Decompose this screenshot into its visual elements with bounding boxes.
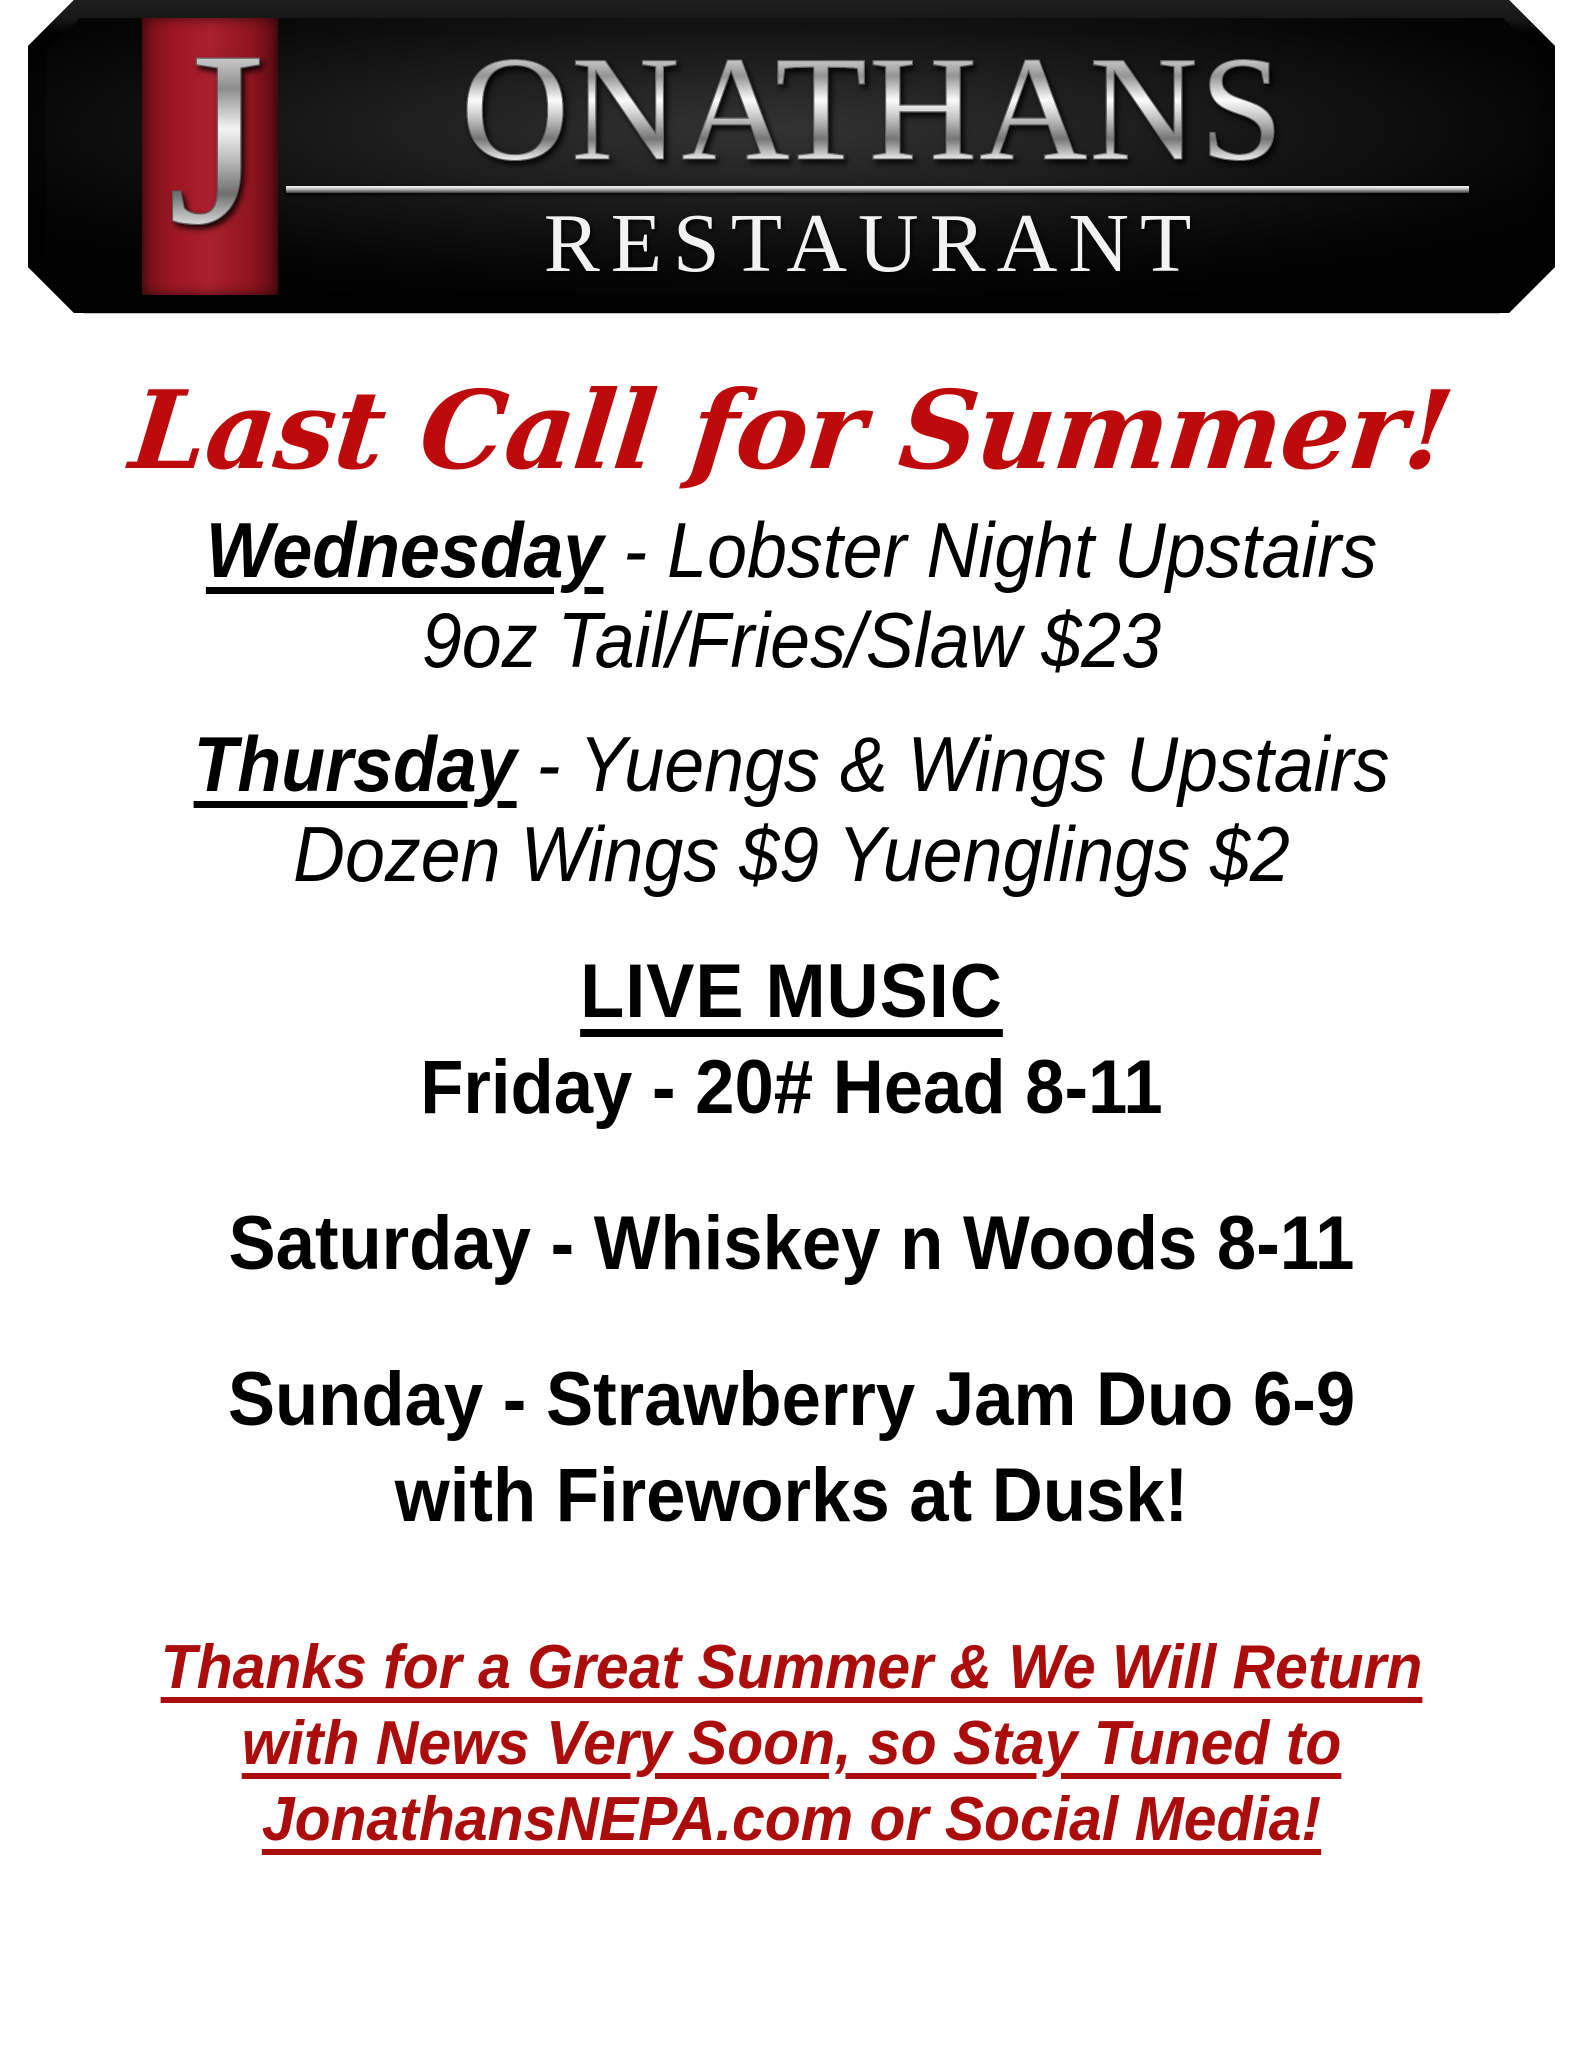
headline-last-call: Last Call for Summer! [0,366,1583,496]
special-wednesday-title-line: Wednesday - Lobster Night Upstairs [69,506,1514,594]
special-thursday-detail: Dozen Wings $9 Yuenglings $2 [69,808,1514,900]
logo-divider-rule [286,186,1469,193]
spacer [0,1136,1583,1196]
live-music-saturday: Saturday - Whiskey n Woods 8-11 [55,1196,1527,1292]
logo-initial-j: J [146,14,286,264]
footer-line-1: Thanks for a Great Summer & We Will Retu… [40,1630,1544,1706]
logo-wordmark: ONATHANS [278,34,1468,184]
live-music-sunday-fireworks: with Fireworks at Dusk! [55,1448,1527,1544]
restaurant-logo-banner: J ONATHANS RESTAURANT [28,0,1555,318]
footer-message: Thanks for a Great Summer & We Will Retu… [40,1630,1544,1858]
special-wednesday-separator: - [603,506,667,594]
live-music-heading: LIVE MUSIC [40,944,1544,1040]
banner-plaque: J ONATHANS RESTAURANT [28,0,1555,313]
special-wednesday-day: Wednesday [206,506,603,594]
live-music-friday: Friday - 20# Head 8-11 [55,1040,1527,1136]
special-thursday-title: Yuengs & Wings Upstairs [579,720,1389,808]
special-thursday: Thursday - Yuengs & Wings Upstairs Dozen… [0,720,1583,900]
spacer [0,686,1583,720]
logo-subtitle-restaurant: RESTAURANT [278,198,1468,290]
live-music-sunday: Sunday - Strawberry Jam Duo 6-9 [55,1352,1527,1448]
footer-line-2: with News Very Soon, so Stay Tuned to [40,1706,1544,1782]
flyer-body: Last Call for Summer! Wednesday - Lobste… [0,318,1583,1858]
special-wednesday-detail: 9oz Tail/Fries/Slaw $23 [69,594,1514,686]
footer-line-3: JonathansNEPA.com or Social Media! [40,1782,1544,1858]
special-wednesday: Wednesday - Lobster Night Upstairs 9oz T… [0,506,1583,686]
spacer [0,1292,1583,1352]
special-wednesday-title: Lobster Night Upstairs [667,506,1377,594]
special-thursday-day: Thursday [194,720,517,808]
special-thursday-title-line: Thursday - Yuengs & Wings Upstairs [69,720,1514,808]
special-thursday-separator: - [517,720,579,808]
